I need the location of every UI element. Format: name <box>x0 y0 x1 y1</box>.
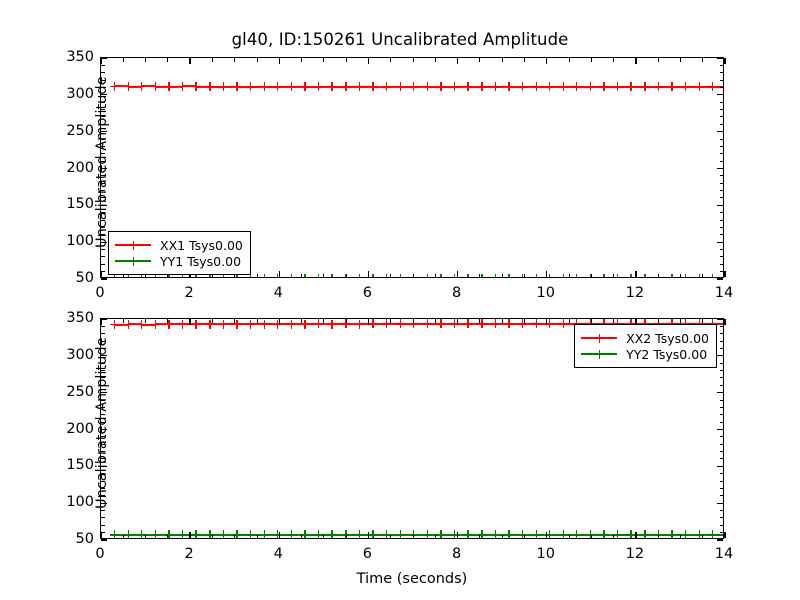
x-tick-minor <box>413 535 414 539</box>
y-tick-minor <box>720 385 724 386</box>
y-tick-label: 200 <box>48 421 94 437</box>
data-point-marker <box>599 274 608 277</box>
x-tick-label: 10 <box>526 285 566 301</box>
x-tick-major <box>189 319 190 325</box>
x-tick-minor <box>257 58 258 62</box>
x-tick-major <box>279 319 280 325</box>
x-tick-minor <box>680 58 681 62</box>
x-tick-minor <box>702 274 703 278</box>
x-tick-minor <box>658 535 659 539</box>
y-tick-minor <box>720 234 724 235</box>
y-tick-minor <box>101 326 105 327</box>
x-tick-minor <box>524 274 525 278</box>
x-tick-minor <box>257 535 258 539</box>
legend-label: XX2 Tsys0.00 <box>626 331 709 346</box>
x-tick-minor <box>591 58 592 62</box>
data-point-marker <box>626 530 635 538</box>
data-point-marker <box>667 530 676 538</box>
x-tick-major <box>368 271 369 277</box>
data-point-marker <box>518 274 527 277</box>
data-point-marker <box>327 274 336 277</box>
y-tick-minor <box>720 414 724 415</box>
y-tick-minor <box>720 264 724 265</box>
y-tick-minor <box>720 102 724 103</box>
y-tick-minor <box>720 444 724 445</box>
x-tick-major <box>457 532 458 538</box>
y-tick-minor <box>720 146 724 147</box>
y-tick-major <box>717 57 723 58</box>
legend-swatch-yy1 <box>115 255 151 267</box>
data-point-marker <box>532 274 541 277</box>
x-tick-minor <box>702 535 703 539</box>
data-point-marker <box>396 530 405 538</box>
x-tick-minor <box>145 535 146 539</box>
data-point-marker <box>708 274 717 277</box>
legend-label: YY1 Tsys0.00 <box>160 254 241 269</box>
y-tick-major <box>717 168 723 169</box>
x-tick-minor <box>346 274 347 278</box>
y-tick-minor <box>720 532 724 533</box>
x-tick-minor <box>145 58 146 62</box>
y-tick-minor <box>720 161 724 162</box>
x-tick-minor <box>257 274 258 278</box>
x-tick-minor <box>569 274 570 278</box>
y-tick-minor <box>720 436 724 437</box>
y-tick-minor <box>720 377 724 378</box>
x-tick-major <box>457 58 458 64</box>
x-tick-label: 8 <box>437 285 477 301</box>
x-tick-minor <box>569 58 570 62</box>
x-tick-major <box>724 271 725 277</box>
x-tick-minor <box>435 319 436 323</box>
x-tick-minor <box>346 319 347 323</box>
x-tick-major <box>546 532 547 538</box>
legend-label: XX1 Tsys0.00 <box>160 238 243 253</box>
y-tick-minor <box>720 348 724 349</box>
legend-item: YY1 Tsys0.00 <box>115 253 243 269</box>
x-tick-minor <box>390 535 391 539</box>
x-tick-minor <box>569 535 570 539</box>
y-tick-minor <box>101 256 105 257</box>
x-tick-label: 14 <box>704 285 744 301</box>
x-tick-minor <box>502 319 503 323</box>
data-point-marker <box>436 530 445 538</box>
x-tick-minor <box>413 274 414 278</box>
y-tick-major <box>717 355 723 356</box>
x-tick-minor <box>257 319 258 323</box>
y-tick-minor <box>720 517 724 518</box>
x-tick-major <box>724 532 725 538</box>
y-tick-minor <box>720 525 724 526</box>
legend-item: XX1 Tsys0.00 <box>115 237 243 253</box>
x-tick-minor <box>435 535 436 539</box>
x-tick-minor <box>346 535 347 539</box>
data-point-marker <box>708 530 717 538</box>
x-tick-label: 10 <box>526 546 566 562</box>
y-axis-label-top: Uncalibrated Amplitude <box>93 88 111 248</box>
data-point-marker <box>640 530 649 538</box>
data-point-marker <box>368 530 377 538</box>
data-point-marker <box>355 530 364 538</box>
x-tick-label: 6 <box>347 285 387 301</box>
y-tick-label: 50 <box>48 270 94 286</box>
x-tick-label: 2 <box>169 546 209 562</box>
y-tick-major <box>717 503 723 504</box>
x-tick-minor <box>167 58 168 62</box>
data-point-marker <box>667 274 676 277</box>
x-tick-minor <box>212 319 213 323</box>
x-tick-minor <box>479 535 480 539</box>
x-tick-minor <box>234 58 235 62</box>
y-tick-major <box>101 57 107 58</box>
y-tick-label: 150 <box>48 196 94 212</box>
x-tick-major <box>100 532 101 538</box>
x-tick-major <box>724 319 725 325</box>
data-point-marker <box>219 530 228 538</box>
y-tick-minor <box>720 183 724 184</box>
x-tick-minor <box>234 319 235 323</box>
data-point-marker <box>124 530 133 538</box>
data-point-marker <box>273 530 282 538</box>
x-tick-minor <box>212 535 213 539</box>
y-tick-minor <box>720 341 724 342</box>
x-tick-minor <box>613 274 614 278</box>
x-tick-minor <box>301 274 302 278</box>
y-tick-minor <box>101 517 105 518</box>
x-tick-major <box>546 271 547 277</box>
data-point-marker <box>110 530 119 538</box>
y-tick-label: 100 <box>48 494 94 510</box>
data-point-marker <box>423 274 432 277</box>
x-tick-label: 8 <box>437 546 477 562</box>
figure-canvas: gl40, ID:150261 Uncalibrated Amplitude X… <box>0 0 800 600</box>
data-point-marker <box>518 530 527 538</box>
x-tick-minor <box>569 319 570 323</box>
y-tick-minor <box>720 139 724 140</box>
x-tick-minor <box>591 274 592 278</box>
x-tick-minor <box>479 58 480 62</box>
x-tick-major <box>635 532 636 538</box>
y-tick-minor <box>720 220 724 221</box>
y-tick-major <box>717 278 723 279</box>
x-tick-minor <box>390 274 391 278</box>
y-tick-minor <box>720 65 724 66</box>
data-point-marker <box>314 530 323 538</box>
x-tick-minor <box>524 535 525 539</box>
y-tick-minor <box>720 458 724 459</box>
data-point-marker <box>314 274 323 277</box>
data-point-marker <box>572 274 581 277</box>
x-tick-minor <box>167 535 168 539</box>
x-tick-minor <box>323 274 324 278</box>
x-tick-minor <box>658 319 659 323</box>
y-tick-major <box>717 205 723 206</box>
x-axis-label: Time (seconds) <box>100 571 724 587</box>
y-tick-minor <box>720 488 724 489</box>
data-point-marker <box>327 530 336 538</box>
y-tick-minor <box>720 190 724 191</box>
y-tick-minor <box>720 87 724 88</box>
x-tick-major <box>189 58 190 64</box>
y-tick-major <box>717 466 723 467</box>
x-tick-label: 2 <box>169 285 209 301</box>
data-point-marker <box>613 530 622 538</box>
y-tick-major <box>717 131 723 132</box>
y-tick-label: 300 <box>48 347 94 363</box>
x-tick-minor <box>680 274 681 278</box>
x-tick-minor <box>479 274 480 278</box>
data-point-marker <box>463 530 472 538</box>
legend-swatch-yy2 <box>581 348 617 360</box>
x-tick-minor <box>346 58 347 62</box>
y-tick-minor <box>720 422 724 423</box>
y-tick-minor <box>720 109 724 110</box>
y-tick-minor <box>101 510 105 511</box>
data-point-marker <box>463 274 472 277</box>
data-point-marker <box>504 274 513 277</box>
x-tick-minor <box>524 319 525 323</box>
x-tick-major <box>100 319 101 325</box>
legend-label: YY2 Tsys0.00 <box>626 347 707 362</box>
data-point-marker <box>355 274 364 277</box>
data-point-marker <box>681 530 690 538</box>
y-axis-label-bottom: Uncalibrated Amplitude <box>93 349 111 509</box>
data-point-marker <box>640 274 649 277</box>
data-point-marker <box>287 274 296 277</box>
x-tick-minor <box>123 58 124 62</box>
y-tick-minor <box>720 256 724 257</box>
data-point-marker <box>396 274 405 277</box>
data-point-marker <box>423 530 432 538</box>
x-tick-minor <box>413 58 414 62</box>
y-tick-label: 300 <box>48 86 94 102</box>
y-tick-label: 250 <box>48 123 94 139</box>
x-tick-minor <box>613 58 614 62</box>
x-tick-major <box>189 532 190 538</box>
y-tick-major <box>101 278 107 279</box>
axes-top-panel: XX1 Tsys0.00YY1 Tsys0.00 <box>100 57 724 278</box>
x-tick-major <box>100 271 101 277</box>
x-tick-minor <box>524 58 525 62</box>
x-tick-major <box>457 271 458 277</box>
x-tick-minor <box>145 319 146 323</box>
data-point-marker <box>721 274 724 277</box>
x-tick-label: 4 <box>258 285 298 301</box>
x-tick-major <box>546 319 547 325</box>
data-point-marker <box>491 530 500 538</box>
data-point-marker <box>559 274 568 277</box>
legend-bottom[interactable]: XX2 Tsys0.00YY2 Tsys0.00 <box>574 324 717 368</box>
y-tick-minor <box>720 212 724 213</box>
x-tick-minor <box>502 58 503 62</box>
x-tick-label: 0 <box>80 546 120 562</box>
y-tick-minor <box>720 124 724 125</box>
figure-title: gl40, ID:150261 Uncalibrated Amplitude <box>0 30 800 49</box>
legend-item: XX2 Tsys0.00 <box>581 330 709 346</box>
y-tick-minor <box>101 72 105 73</box>
y-tick-minor <box>101 249 105 250</box>
y-tick-minor <box>720 197 724 198</box>
x-tick-minor <box>123 535 124 539</box>
x-tick-label: 6 <box>347 546 387 562</box>
legend-swatch-xx1 <box>115 239 151 251</box>
x-tick-minor <box>301 58 302 62</box>
y-tick-major <box>101 318 107 319</box>
data-point-marker <box>287 530 296 538</box>
x-tick-minor <box>435 58 436 62</box>
x-tick-major <box>457 319 458 325</box>
data-point-marker <box>559 530 568 538</box>
y-tick-minor <box>720 153 724 154</box>
y-tick-major <box>717 392 723 393</box>
y-tick-label: 150 <box>48 457 94 473</box>
y-tick-major <box>717 429 723 430</box>
data-point-marker <box>613 274 622 277</box>
x-tick-minor <box>390 58 391 62</box>
x-tick-minor <box>613 319 614 323</box>
x-tick-minor <box>390 319 391 323</box>
legend-item: YY2 Tsys0.00 <box>581 346 709 362</box>
y-tick-minor <box>101 525 105 526</box>
legend-top[interactable]: XX1 Tsys0.00YY1 Tsys0.00 <box>108 231 251 275</box>
y-tick-label: 200 <box>48 160 94 176</box>
data-point-marker <box>368 274 377 277</box>
x-tick-minor <box>479 319 480 323</box>
x-tick-minor <box>613 535 614 539</box>
x-tick-major <box>368 319 369 325</box>
x-tick-major <box>724 58 725 64</box>
x-tick-major <box>635 58 636 64</box>
axes-bottom-panel: XX2 Tsys0.00YY2 Tsys0.00 <box>100 318 724 539</box>
y-tick-minor <box>720 249 724 250</box>
x-tick-major <box>635 271 636 277</box>
x-tick-major <box>279 271 280 277</box>
data-point-marker <box>532 530 541 538</box>
x-tick-major <box>279 58 280 64</box>
x-tick-label: 12 <box>615 285 655 301</box>
data-point-marker <box>491 274 500 277</box>
y-tick-minor <box>101 264 105 265</box>
data-point-marker <box>164 530 173 538</box>
x-tick-minor <box>658 274 659 278</box>
x-tick-major <box>100 58 101 64</box>
x-tick-label: 14 <box>704 546 744 562</box>
y-tick-minor <box>720 473 724 474</box>
x-tick-label: 4 <box>258 546 298 562</box>
x-tick-minor <box>323 535 324 539</box>
x-tick-minor <box>323 58 324 62</box>
legend-swatch-xx2 <box>581 332 617 344</box>
data-point-marker <box>178 530 187 538</box>
y-tick-minor <box>720 227 724 228</box>
y-tick-label: 50 <box>48 531 94 547</box>
y-tick-minor <box>101 333 105 334</box>
y-tick-minor <box>101 65 105 66</box>
data-point-marker <box>246 530 255 538</box>
x-tick-label: 12 <box>615 546 655 562</box>
x-tick-minor <box>680 535 681 539</box>
y-tick-minor <box>720 370 724 371</box>
x-tick-minor <box>212 58 213 62</box>
y-tick-label: 350 <box>48 310 94 326</box>
y-tick-major <box>101 539 107 540</box>
data-point-marker <box>436 274 445 277</box>
x-tick-label: 0 <box>80 285 120 301</box>
data-point-marker <box>260 530 269 538</box>
x-tick-minor <box>323 319 324 323</box>
x-tick-minor <box>702 58 703 62</box>
x-tick-minor <box>502 535 503 539</box>
x-tick-minor <box>301 535 302 539</box>
y-tick-label: 250 <box>48 384 94 400</box>
x-tick-minor <box>591 535 592 539</box>
x-tick-major <box>368 58 369 64</box>
y-tick-minor <box>720 72 724 73</box>
y-tick-major <box>717 94 723 95</box>
x-tick-minor <box>702 319 703 323</box>
x-tick-minor <box>123 319 124 323</box>
x-tick-major <box>368 532 369 538</box>
y-tick-label: 100 <box>48 233 94 249</box>
x-tick-minor <box>167 319 168 323</box>
y-tick-major <box>717 539 723 540</box>
y-tick-minor <box>720 481 724 482</box>
y-tick-minor <box>720 451 724 452</box>
data-point-marker <box>260 274 269 277</box>
x-tick-major <box>546 58 547 64</box>
y-tick-minor <box>720 495 724 496</box>
x-tick-minor <box>591 319 592 323</box>
x-tick-minor <box>658 58 659 62</box>
data-point-marker <box>626 274 635 277</box>
x-tick-minor <box>435 274 436 278</box>
x-tick-minor <box>301 319 302 323</box>
y-tick-minor <box>720 400 724 401</box>
y-tick-minor <box>720 407 724 408</box>
y-tick-minor <box>720 333 724 334</box>
y-tick-major <box>717 242 723 243</box>
data-point-marker <box>151 530 160 538</box>
x-tick-major <box>279 532 280 538</box>
data-point-marker <box>504 530 513 538</box>
y-tick-minor <box>720 510 724 511</box>
y-tick-minor <box>720 175 724 176</box>
y-tick-minor <box>720 271 724 272</box>
data-point-marker <box>599 530 608 538</box>
y-tick-minor <box>720 80 724 81</box>
y-tick-minor <box>720 326 724 327</box>
y-tick-label: 350 <box>48 49 94 65</box>
data-point-marker <box>273 274 282 277</box>
data-point-marker <box>191 530 200 538</box>
x-tick-minor <box>413 319 414 323</box>
y-tick-minor <box>720 363 724 364</box>
data-point-marker <box>572 530 581 538</box>
y-tick-major <box>717 318 723 319</box>
x-tick-minor <box>680 319 681 323</box>
data-point-marker <box>681 274 690 277</box>
x-tick-minor <box>502 274 503 278</box>
x-tick-minor <box>234 535 235 539</box>
y-tick-minor <box>720 116 724 117</box>
